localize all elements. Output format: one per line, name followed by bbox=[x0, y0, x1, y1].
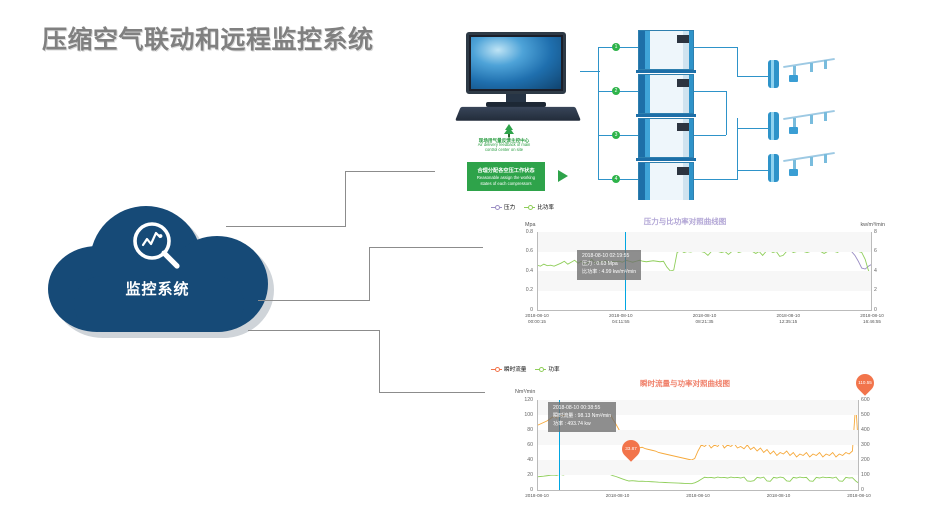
chart2-legend-item-0[interactable]: 瞬时流量 bbox=[491, 365, 526, 373]
node-2: 2 bbox=[612, 87, 620, 95]
plant-line-3 bbox=[768, 148, 838, 184]
working-states-callout: 合理分配各空压工作状态 Reasonable assign the workin… bbox=[467, 162, 545, 191]
drop-pipe-3b bbox=[810, 157, 813, 166]
connector-to-chart1-top bbox=[369, 247, 483, 248]
c1-xticks-label: 2018-08-1008:21:35 bbox=[675, 313, 735, 324]
distribution-rail-3 bbox=[783, 152, 835, 162]
drop-pipe-3c bbox=[824, 154, 827, 163]
working-states-callout-en2: states of each compressors bbox=[467, 181, 545, 186]
node-1: 1 bbox=[612, 43, 620, 51]
c2-yticks-label: 60 bbox=[511, 442, 533, 448]
compressor-3-foot bbox=[636, 158, 696, 161]
chart1-legend-label-1: 比功率 bbox=[537, 203, 554, 211]
c2-y2ticks-label: 200 bbox=[861, 457, 883, 463]
c1-yticks-label: 0.8 bbox=[511, 229, 533, 235]
end-machine-2 bbox=[789, 127, 798, 134]
chart2-legend-swatch-1 bbox=[535, 369, 546, 370]
control-center-caption: 现场用气量反馈主控中心 Air delivery feedback of mai… bbox=[444, 138, 564, 153]
chart2-band-1 bbox=[537, 430, 859, 445]
page-title: 压缩空气联动和远程监控系统 bbox=[42, 20, 374, 56]
chart1-tooltip-line2: 比功率 : 4.99 kw/m³/min bbox=[582, 269, 636, 277]
compressor-2 bbox=[638, 74, 694, 114]
c2-y2ticks-label: 600 bbox=[861, 397, 883, 403]
plant-line-2 bbox=[768, 106, 838, 142]
plant-line-1 bbox=[768, 54, 838, 90]
chart2-title: 瞬时流量与功率对照曲线图 bbox=[485, 378, 885, 389]
chart1-tooltip: 2018-08-10 02:19:55 压力 : 0.63 Mpa 比功率 : … bbox=[577, 250, 641, 280]
green-arrow-icon bbox=[558, 170, 568, 182]
air-tank-3 bbox=[768, 154, 779, 182]
chart1-title: 压力与比功率对照曲线图 bbox=[485, 216, 885, 227]
c1-yticks-label: 0 bbox=[511, 307, 533, 313]
chart1-legend-swatch-0 bbox=[491, 207, 502, 208]
compressor-3 bbox=[638, 118, 694, 158]
chart1-tooltip-line1: 压力 : 0.63 Mpa bbox=[582, 261, 636, 269]
chart2-y-axis bbox=[537, 400, 538, 490]
chart1-y2-axis-unit: kw/m³/min bbox=[860, 222, 885, 228]
c1-y2ticks-label: 2 bbox=[874, 287, 896, 293]
chart2-x-axis bbox=[537, 490, 859, 491]
chart1-x-axis bbox=[537, 310, 872, 311]
chart2-tooltip-line2: 功率 : 493.74 kw bbox=[553, 421, 611, 429]
chart1-legend-item-1[interactable]: 比功率 bbox=[524, 203, 554, 211]
drop-pipe-2c bbox=[824, 112, 827, 121]
c1-y2ticks-label: 6 bbox=[874, 248, 896, 254]
c2-xticks-label: 2018-08-10 bbox=[588, 493, 648, 499]
chart2-tooltip: 2018-08-10 00:38:55 瞬时流量 : 98.13 Nm³/min… bbox=[548, 402, 616, 432]
chart2-band-2 bbox=[537, 460, 859, 475]
pipe-to-tank-3 bbox=[737, 170, 769, 171]
c2-xticks-label: 2018-08-10 bbox=[749, 493, 809, 499]
node-4: 4 bbox=[612, 175, 620, 183]
connector-to-chart1 bbox=[258, 300, 370, 301]
c2-y2ticks-label: 400 bbox=[861, 427, 883, 433]
compressor-2-foot bbox=[636, 114, 696, 117]
slide-canvas: 压缩空气联动和远程监控系统 监控系统 bbox=[0, 0, 945, 529]
c1-xticks-label: 2018-08-1012:35:15 bbox=[758, 313, 818, 324]
c2-y2ticks-label: 100 bbox=[861, 472, 883, 478]
chart1-legend[interactable]: 压力 比功率 bbox=[491, 203, 554, 211]
chart2-legend-item-1[interactable]: 功率 bbox=[535, 365, 559, 373]
chart-instant-flow-vs-power: 瞬时流量 功率 瞬时流量与功率对照曲线图 Nm³/min 12010080604… bbox=[485, 362, 885, 527]
c2-yticks-label: 120 bbox=[511, 397, 533, 403]
control-center-caption-en2: control center on site bbox=[444, 148, 564, 153]
node-1-label: 1 bbox=[615, 44, 618, 50]
chart1-legend-swatch-1 bbox=[524, 207, 535, 208]
node-2-label: 2 bbox=[615, 88, 618, 94]
c1-y2ticks-label: 8 bbox=[874, 229, 896, 235]
pipe-outlet-4 bbox=[694, 179, 738, 180]
chart1-y2-axis bbox=[871, 232, 872, 310]
chart1-y-axis-unit: Mpa bbox=[525, 222, 536, 228]
c1-xticks-label: 2018-08-1000:00:15 bbox=[507, 313, 567, 324]
c2-y2ticks-label: 300 bbox=[861, 442, 883, 448]
chart-pressure-vs-specific-power: 压力 比功率 压力与比功率对照曲线图 Mpa kw/m³/min 0.80.60… bbox=[485, 200, 885, 340]
connector-to-diagram-top bbox=[345, 171, 435, 172]
keyboard bbox=[455, 107, 581, 121]
air-tank-2 bbox=[768, 112, 779, 140]
cloud-label: 监控系统 bbox=[40, 278, 275, 299]
pipe-right-bus-mid bbox=[726, 91, 727, 135]
air-tank-1 bbox=[768, 60, 779, 88]
connector-to-chart2-bottom bbox=[379, 392, 485, 393]
chart1-legend-label-0: 压力 bbox=[504, 203, 515, 211]
compressor-4 bbox=[638, 162, 694, 202]
connector-to-chart1-vertical bbox=[369, 247, 370, 301]
drop-pipe-1b bbox=[810, 63, 813, 72]
system-topology-diagram: 现场用气量反馈主控中心 Air delivery feedback of mai… bbox=[430, 18, 945, 208]
c2-yticks-label: 20 bbox=[511, 472, 533, 478]
pipe-outlet-2 bbox=[694, 91, 726, 92]
node-3: 3 bbox=[612, 131, 620, 139]
chart1-tooltip-timestamp: 2018-08-10 02:19:55 bbox=[582, 253, 636, 261]
end-machine-1 bbox=[789, 75, 798, 82]
c1-y2ticks-label: 0 bbox=[874, 307, 896, 313]
distribution-rail-2 bbox=[783, 110, 835, 120]
distribution-rail-1 bbox=[783, 58, 835, 68]
drop-pipe-1c bbox=[824, 60, 827, 69]
magnifier-chart-icon bbox=[128, 218, 186, 281]
working-states-callout-cn: 合理分配各空压工作状态 bbox=[467, 167, 545, 174]
c2-y2ticks-label: 0 bbox=[861, 487, 883, 493]
drop-pipe-3a bbox=[793, 160, 796, 169]
chart2-tooltip-line1: 瞬时流量 : 98.13 Nm³/min bbox=[553, 413, 611, 421]
c1-yticks-label: 0.2 bbox=[511, 287, 533, 293]
chart1-band-0 bbox=[537, 232, 872, 252]
pipe-pc-to-bus bbox=[580, 71, 600, 72]
chart1-y-axis bbox=[537, 232, 538, 310]
pipe-right-bus-upper bbox=[737, 47, 738, 77]
node-3-label: 3 bbox=[615, 132, 618, 138]
chart2-marker-0-label: 33.87 bbox=[622, 440, 640, 458]
chart2-legend-label-0: 瞬时流量 bbox=[504, 365, 526, 373]
c2-yticks-label: 100 bbox=[511, 412, 533, 418]
c2-yticks-label: 40 bbox=[511, 457, 533, 463]
node-4-label: 4 bbox=[615, 176, 618, 182]
c2-xticks-label: 2018-08-10 bbox=[829, 493, 889, 499]
compressor-1-foot bbox=[636, 70, 696, 73]
chart2-legend[interactable]: 瞬时流量 功率 bbox=[491, 365, 560, 373]
compressor-1 bbox=[638, 30, 694, 70]
connector-to-chart2 bbox=[248, 330, 380, 331]
chart2-marker-1-label: 110.55 bbox=[856, 374, 874, 392]
pipe-outlet-1 bbox=[694, 47, 738, 48]
pipe-to-tank-1 bbox=[737, 76, 769, 77]
chart2-tooltip-timestamp: 2018-08-10 00:38:55 bbox=[553, 405, 611, 413]
pipe-to-tank-2 bbox=[737, 128, 769, 129]
c1-y2ticks-label: 4 bbox=[874, 268, 896, 274]
c1-xticks-label: 2018-08-1016:46:55 bbox=[842, 313, 902, 324]
drop-pipe-1a bbox=[793, 66, 796, 75]
connector-to-diagram bbox=[226, 226, 346, 227]
control-center-computer bbox=[430, 18, 590, 123]
chart2-marker-1[interactable]: 110.55 bbox=[852, 370, 877, 395]
connector-to-diagram-vertical bbox=[345, 172, 346, 227]
c1-xticks-label: 2018-08-1004:11:55 bbox=[591, 313, 651, 324]
c2-yticks-label: 80 bbox=[511, 427, 533, 433]
chart1-legend-item-0[interactable]: 压力 bbox=[491, 203, 515, 211]
working-states-callout-en1: Reasonable assign the working bbox=[467, 175, 545, 180]
c1-yticks-label: 0.4 bbox=[511, 268, 533, 274]
c2-xticks-label: 2018-08-10 bbox=[507, 493, 567, 499]
chart2-y-axis-unit: Nm³/min bbox=[515, 389, 535, 395]
c2-yticks-label: 0 bbox=[511, 487, 533, 493]
chart2-y2-axis bbox=[858, 400, 859, 490]
c2-y2ticks-label: 500 bbox=[861, 412, 883, 418]
pipe-outlet-3 bbox=[694, 135, 726, 136]
end-machine-3 bbox=[789, 169, 798, 176]
drop-pipe-2a bbox=[793, 118, 796, 127]
chart2-marker-0[interactable]: 33.87 bbox=[618, 436, 643, 461]
monitoring-cloud[interactable]: 监控系统 bbox=[40, 190, 295, 335]
c1-yticks-label: 0.6 bbox=[511, 248, 533, 254]
monitor-screen bbox=[466, 32, 566, 94]
chart2-legend-label-1: 功率 bbox=[548, 365, 559, 373]
connector-to-chart2-vertical bbox=[379, 330, 380, 393]
c2-xticks-label: 2018-08-10 bbox=[668, 493, 728, 499]
chart2-legend-swatch-0 bbox=[491, 369, 502, 370]
pipe-left-bus bbox=[598, 47, 599, 179]
drop-pipe-2b bbox=[810, 115, 813, 124]
